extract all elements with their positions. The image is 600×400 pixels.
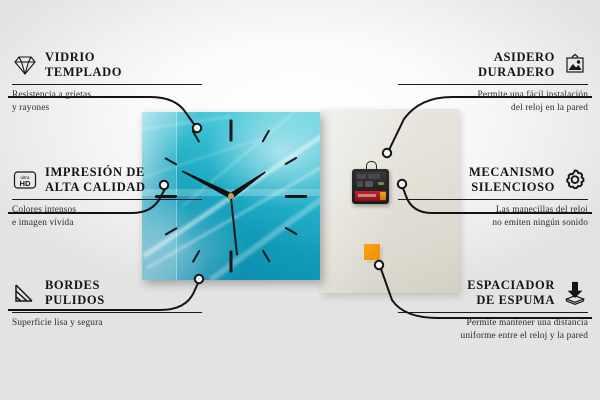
feature-title-line1: MECANISMO [469, 165, 555, 179]
clock-tick [285, 195, 307, 198]
feature-desc-line1: Las manecillas del reloj [496, 205, 588, 215]
feature-title-line1: VIDRIO [45, 50, 95, 64]
clock-second-hand [230, 196, 238, 256]
clock-mechanism [352, 169, 389, 204]
foam-spacer [364, 244, 380, 260]
diagonal-lines-icon [12, 280, 38, 306]
feature-desc-line1: Resistencia a grietas [12, 90, 91, 100]
feature-desc-line2: del reloj en la pared [511, 103, 588, 113]
feature-espaciador-de-espuma: ESPACIADOR DE ESPUMA Permite mantener un… [398, 278, 588, 343]
clock-tick [230, 120, 233, 142]
feature-desc-line1: Superficie lisa y segura [12, 318, 103, 328]
feature-title-line2: ALTA CALIDAD [45, 180, 146, 194]
feature-vidrio-templado: VIDRIO TEMPLADO Resistencia a grietas y … [12, 50, 202, 115]
feature-desc-line2: y rayones [12, 103, 49, 113]
divider [12, 312, 202, 313]
svg-text:HD: HD [20, 179, 31, 188]
feature-title-line1: ESPACIADOR [467, 278, 555, 292]
divider [398, 199, 588, 200]
feature-impresion-alta-calidad: ultra HD IMPRESIÓN DE ALTA CALIDAD Color… [12, 165, 202, 230]
feature-title-line2: DE ESPUMA [476, 293, 555, 307]
feature-desc-line1: Permite una fácil instalación [478, 90, 588, 100]
feature-title-line1: ASIDERO [494, 50, 555, 64]
feature-desc-line2: e imagen vívida [12, 218, 74, 228]
feature-title-line1: BORDES [45, 278, 100, 292]
divider [12, 199, 202, 200]
feature-desc-line2: no emiten ningún sonido [492, 218, 588, 228]
feature-bordes-pulidos: BORDES PULIDOS Superficie lisa y segura [12, 278, 202, 330]
feature-title-line2: TEMPLADO [45, 65, 122, 79]
feature-asidero-duradero: ASIDERO DURADERO Permite una fácil insta… [398, 50, 588, 115]
feature-title-line1: IMPRESIÓN DE [45, 165, 145, 179]
clock-tick [284, 226, 297, 235]
feature-desc-line1: Permite mantener una distancia [467, 318, 588, 328]
clock-tick [192, 129, 201, 142]
feature-title-line2: PULIDOS [45, 293, 105, 307]
divider [12, 84, 202, 85]
feature-desc-line1: Colores intensos [12, 205, 76, 215]
clock-tick [261, 249, 270, 262]
clock-tick [230, 250, 233, 272]
feature-mecanismo-silencioso: MECANISMO SILENCIOSO Las manecillas del … [398, 165, 588, 230]
ultra-hd-icon: ultra HD [12, 167, 38, 193]
clock-tick [192, 249, 201, 262]
divider [398, 312, 588, 313]
feature-title-line2: SILENCIOSO [471, 180, 555, 194]
gear-icon [562, 167, 588, 193]
diamond-icon [12, 52, 38, 78]
battery [355, 191, 386, 201]
feature-desc-line2: uniforme entre el reloj y la pared [461, 331, 588, 341]
infographic-canvas: VIDRIO TEMPLADO Resistencia a grietas y … [0, 0, 600, 400]
clock-center-cap [228, 193, 234, 199]
picture-frame-hanger-icon [562, 52, 588, 78]
arrow-down-pad-icon [562, 280, 588, 306]
divider [398, 84, 588, 85]
clock-tick [261, 129, 270, 142]
mechanism-body [355, 172, 386, 189]
feature-title-line2: DURADERO [478, 65, 555, 79]
